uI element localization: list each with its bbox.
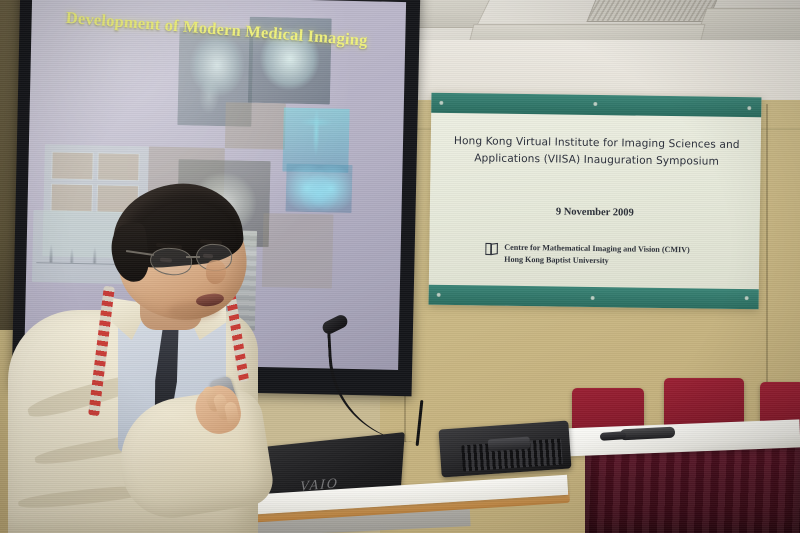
banner-eyelet (593, 102, 597, 106)
banner-eyelet (439, 101, 443, 105)
banner-eyelet (747, 106, 751, 110)
eyeglasses-bridge (186, 256, 200, 258)
banner-eyelet (591, 296, 595, 300)
banner-eyelet (745, 296, 749, 300)
wall-seam (766, 104, 768, 404)
ceiling-tile (693, 8, 800, 44)
ceiling-air-vent (586, 0, 719, 22)
banner-eyelet (437, 293, 441, 297)
photo-scene: Development of Modern Medical Imaging Ho… (0, 0, 800, 533)
banner-title: Hong Kong Virtual Institute for Imaging … (446, 133, 746, 171)
banner-organization-text: Centre for Mathematical Imaging and Visi… (504, 242, 690, 268)
event-banner: Hong Kong Virtual Institute for Imaging … (429, 93, 762, 310)
banner-background (429, 93, 762, 310)
speaker (0, 190, 290, 533)
open-book-icon (485, 242, 498, 256)
gooseneck-microphone-stem (327, 319, 444, 447)
banner-organization: Centre for Mathematical Imaging and Visi… (485, 241, 690, 267)
